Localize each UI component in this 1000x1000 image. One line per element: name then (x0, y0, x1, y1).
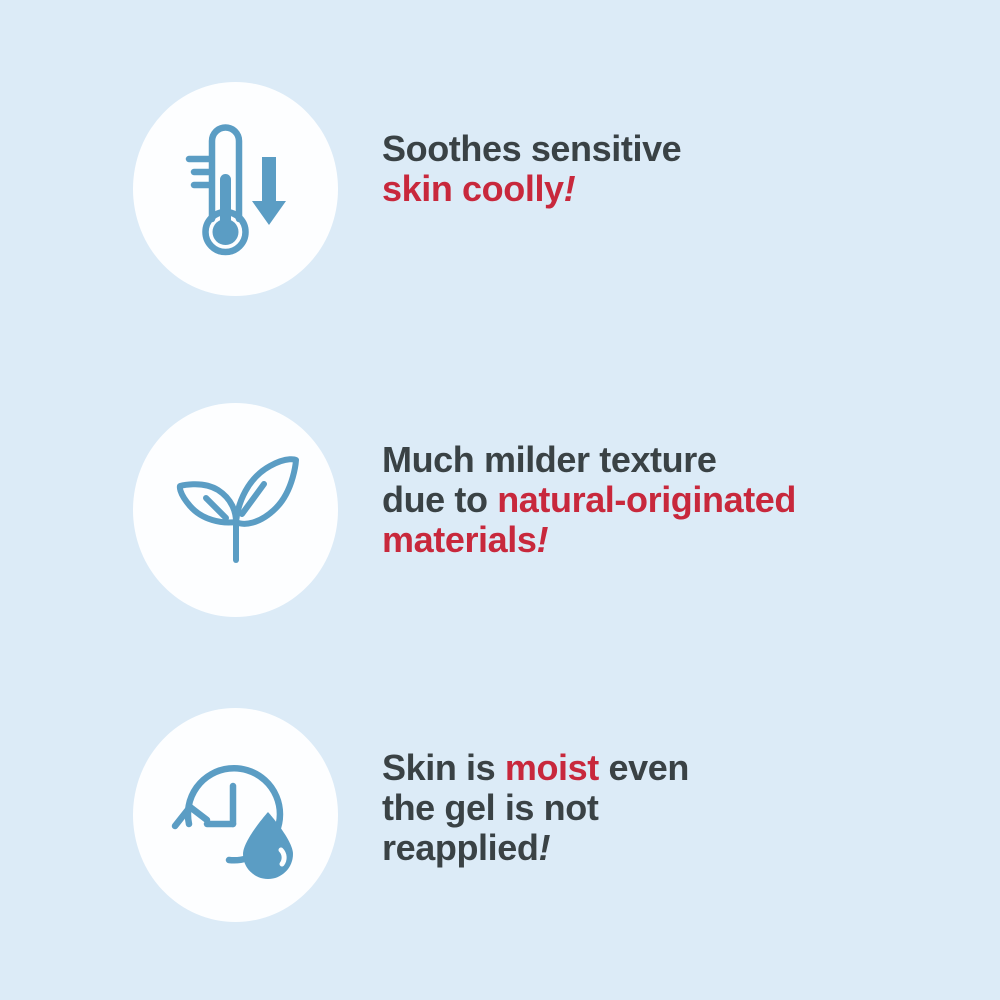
caption-line: due to natural-originated (382, 480, 982, 520)
caption-run: Skin is (382, 747, 505, 788)
feature-caption: Soothes sensitive skin coolly! (382, 129, 982, 209)
caption-line: Skin is moist even (382, 748, 982, 788)
icon-badge-clock-droplet (133, 708, 338, 922)
caption-run: reapplied (382, 827, 538, 868)
caption-line: materials! (382, 520, 982, 560)
feature-caption: Much milder texture due to natural-origi… (382, 440, 982, 560)
caption-run: even (599, 747, 689, 788)
feature-row: Soothes sensitive skin coolly! (0, 82, 1000, 296)
caption-run: due to (382, 479, 497, 520)
caption-line: Much milder texture (382, 440, 982, 480)
feature-row: Much milder texture due to natural-origi… (0, 403, 1000, 617)
caption-run: natural-originated (497, 479, 796, 520)
caption-line: Soothes sensitive (382, 129, 982, 169)
caption-run: skin coolly (382, 168, 564, 209)
caption-run: Soothes sensitive (382, 128, 681, 169)
caption-line: the gel is not (382, 788, 982, 828)
caption-run: ! (537, 519, 549, 560)
sprout-leaves-icon (166, 450, 306, 570)
feature-row: Skin is moist even the gel is not reappl… (0, 708, 1000, 922)
caption-line: reapplied! (382, 828, 982, 868)
caption-run: moist (505, 747, 599, 788)
thermometer-down-icon (177, 119, 295, 259)
icon-badge-thermometer (133, 82, 338, 296)
clock-droplet-icon (167, 750, 305, 880)
caption-run: ! (538, 827, 550, 868)
icon-badge-sprout (133, 403, 338, 617)
caption-line: skin coolly! (382, 169, 982, 209)
caption-run: the gel is not (382, 787, 598, 828)
infographic-canvas: Soothes sensitive skin coolly! Much mi (0, 0, 1000, 1000)
caption-run: materials (382, 519, 537, 560)
caption-run: ! (564, 168, 576, 209)
caption-run: Much milder texture (382, 439, 716, 480)
feature-caption: Skin is moist even the gel is not reappl… (382, 748, 982, 868)
